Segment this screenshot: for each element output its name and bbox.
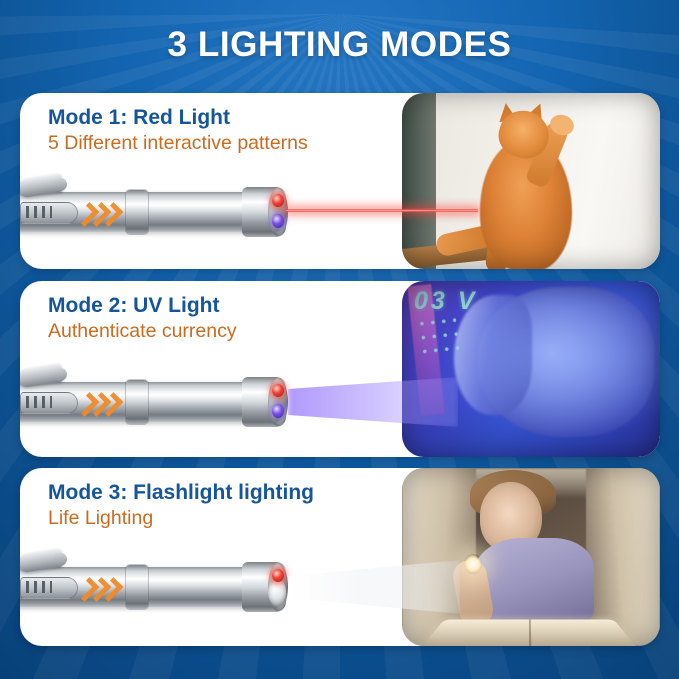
power-button-bars-icon — [26, 581, 52, 593]
mode-card-flashlight: Mode 3: Flashlight lighting Life Lightin… — [20, 468, 660, 646]
mode-2-subtitle: Authenticate currency — [48, 319, 237, 344]
white-led-lens-icon — [268, 578, 286, 606]
mode-card-red-light: Mode 1: Red Light 5 Different interactiv… — [20, 93, 660, 269]
mode-2-title: Mode 2: UV Light — [48, 293, 237, 319]
handheld-flashlight-glow — [464, 554, 482, 574]
white-flashlight-beam — [288, 560, 460, 614]
mode-1-title: Mode 1: Red Light — [48, 105, 308, 131]
cat-scene-door-panel — [402, 93, 436, 269]
open-book — [421, 620, 637, 646]
uv-led-lens-icon — [272, 214, 284, 228]
mode-1-text-block: Mode 1: Red Light 5 Different interactiv… — [48, 105, 308, 157]
red-laser-beam — [286, 208, 478, 213]
infographic-page: 3 LIGHTING MODES Mode 1: Red Light 5 Dif… — [0, 0, 679, 679]
flashlight-mid-ring — [126, 380, 148, 424]
power-button-bars-icon — [26, 206, 52, 218]
flashlight-mid-ring — [126, 565, 148, 609]
uv-led-lens-icon — [272, 404, 284, 418]
flashlight-mid-ring — [126, 190, 148, 234]
flashlight-product-uv-mode — [20, 371, 296, 433]
mode-3-text-block: Mode 3: Flashlight lighting Life Lightin… — [48, 480, 314, 532]
mode-card-uv-light: 03 V Mode 2: UV Light Authenticate curre… — [20, 281, 660, 457]
uv-glow-overlay — [402, 281, 660, 457]
red-laser-lens-icon — [272, 384, 284, 397]
photo-cat-laser — [402, 93, 660, 269]
power-button-bars-icon — [26, 396, 52, 408]
flashlight-product-red-mode — [20, 181, 296, 243]
photo-girl-reading — [402, 468, 660, 646]
mode-2-text-block: Mode 2: UV Light Authenticate currency — [48, 293, 237, 345]
mode-3-subtitle: Life Lighting — [48, 506, 314, 531]
page-title: 3 LIGHTING MODES — [0, 27, 679, 62]
mode-1-subtitle: 5 Different interactive patterns — [48, 131, 308, 156]
photo-uv-banknote: 03 V — [402, 281, 660, 457]
flashlight-product-white-mode — [20, 556, 296, 618]
red-laser-lens-icon — [272, 194, 284, 207]
mode-3-title: Mode 3: Flashlight lighting — [48, 480, 314, 506]
uv-violet-beam — [288, 377, 458, 427]
red-laser-lens-icon — [272, 569, 284, 582]
